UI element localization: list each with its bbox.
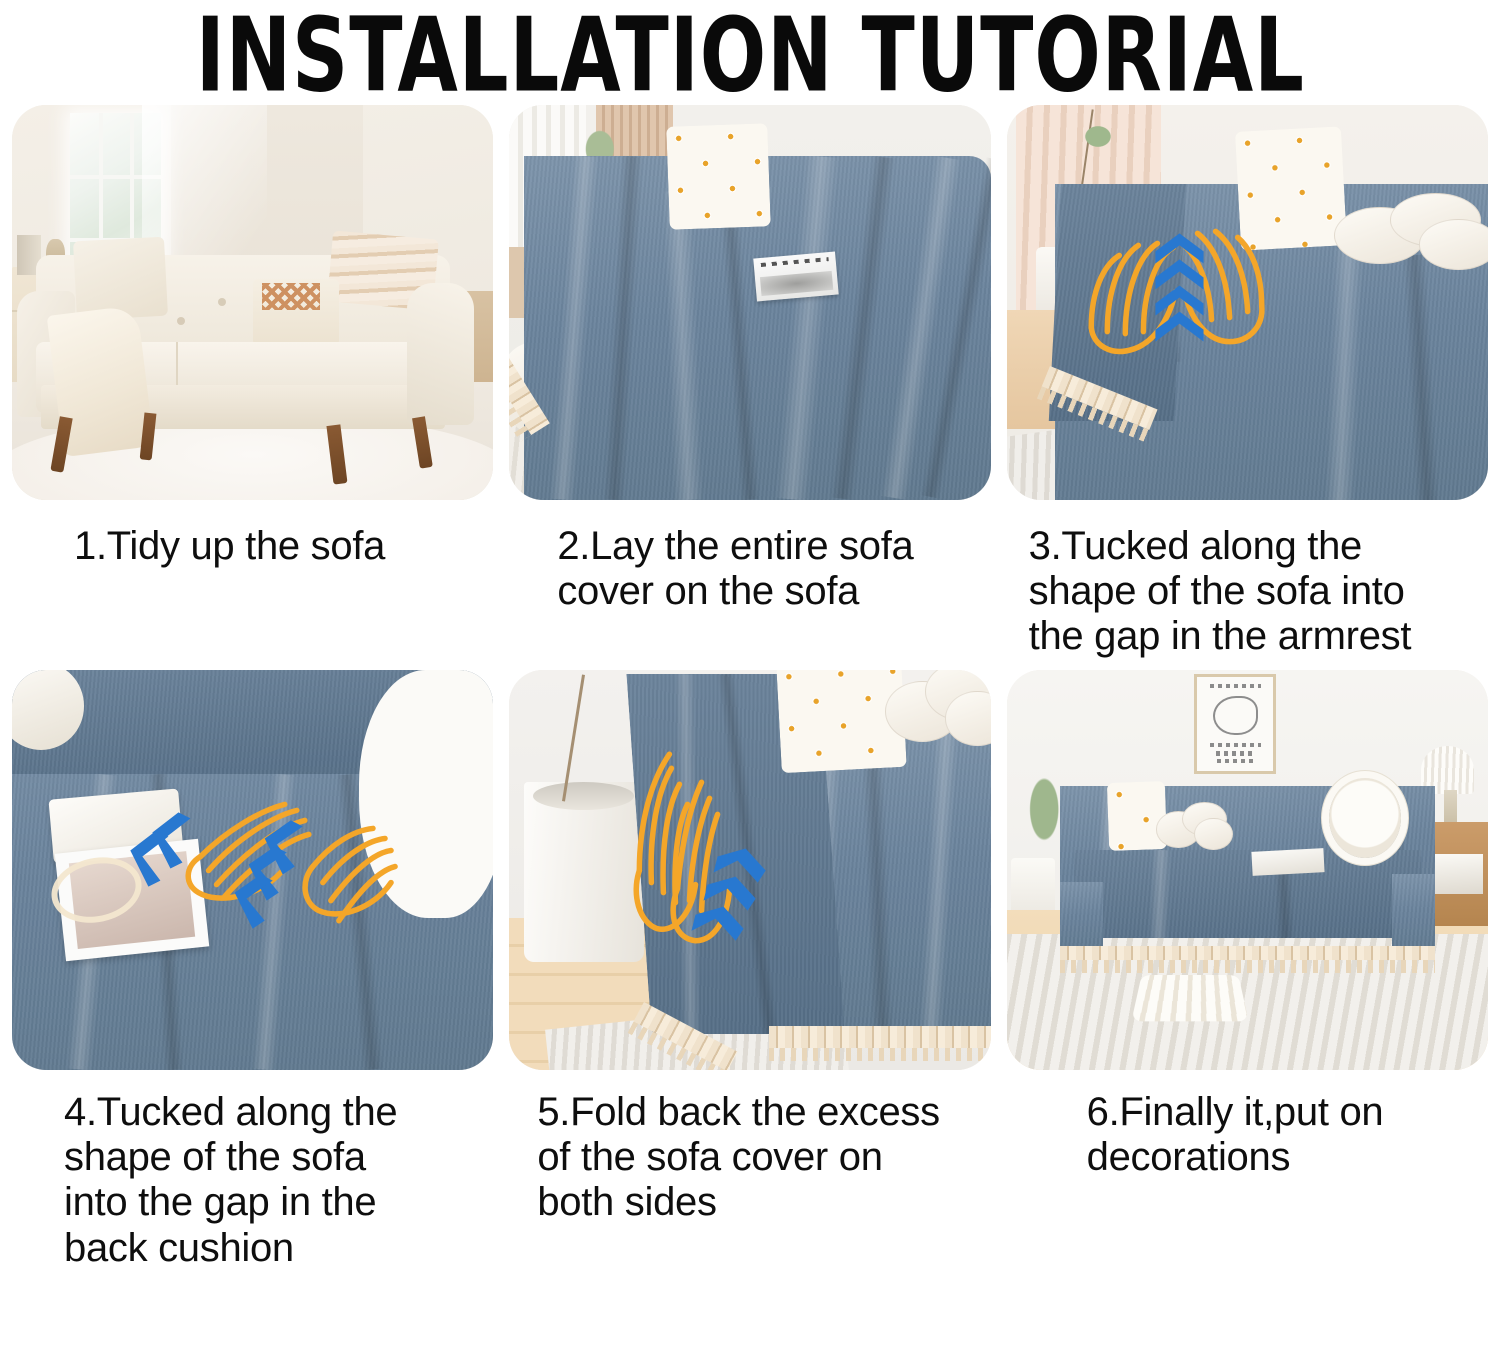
- picasso-wall-art: [1194, 674, 1276, 774]
- plant-icon: [577, 105, 635, 160]
- step-5-caption: 5.Fold back the excess of the sofa cover…: [509, 1090, 990, 1226]
- pillow-diamond-pattern: [262, 283, 320, 311]
- table-lamp-base: [1444, 790, 1457, 826]
- tutorial-step-3: 3.Tucked along the shape of the sofa int…: [1007, 105, 1488, 670]
- round-scalloped-pillow: [1329, 778, 1401, 858]
- magazine: [1252, 848, 1325, 876]
- tutorial-step-2: 2.Lay the entire sofa cover on the sofa: [509, 105, 990, 670]
- step-2-caption: 2.Lay the entire sofa cover on the sofa: [509, 524, 990, 614]
- step-4-caption-wrap: 4.Tucked along the shape of the sofa int…: [12, 1070, 493, 1271]
- tassel-fringe: [1060, 946, 1435, 960]
- knot-pillow: [885, 670, 991, 754]
- tutorial-step-5: 5.Fold back the excess of the sofa cover…: [509, 670, 990, 1271]
- tutorial-steps-grid: 1.Tidy up the sofa: [0, 105, 1500, 1271]
- step-3-photo: [1007, 105, 1488, 500]
- sofa-arm-right: [407, 283, 474, 425]
- page-title: INSTALLATION TUTORIAL: [195, 3, 1304, 105]
- step-6-caption: 6.Finally it,put on decorations: [1007, 1090, 1488, 1180]
- knit-textured-pillow: [359, 670, 494, 918]
- step-1-photo: [12, 105, 493, 500]
- planter-rim: [533, 782, 634, 810]
- plant-icon: [1069, 113, 1127, 160]
- tassel-fringe-front: [769, 1026, 990, 1048]
- covered-sofa-seat: [1074, 850, 1421, 938]
- step-5-photo: [509, 670, 990, 1070]
- tutorial-step-1: 1.Tidy up the sofa: [12, 105, 493, 670]
- knot-pillow: [1334, 188, 1488, 275]
- step-1-caption: 1.Tidy up the sofa: [12, 524, 493, 569]
- step-6-caption-wrap: 6.Finally it,put on decorations: [1007, 1070, 1488, 1240]
- page-header: INSTALLATION TUTORIAL: [0, 0, 1500, 105]
- step-2-caption-wrap: 2.Lay the entire sofa cover on the sofa: [509, 500, 990, 670]
- daisy-pattern-pillow: [1235, 126, 1347, 250]
- tutorial-step-4: 4.Tucked along the shape of the sofa int…: [12, 670, 493, 1271]
- step-2-photo: [509, 105, 990, 500]
- step-5-caption-wrap: 5.Fold back the excess of the sofa cover…: [509, 1070, 990, 1240]
- daisy-pattern-pillow: [666, 123, 771, 229]
- step-3-caption: 3.Tucked along the shape of the sofa int…: [1007, 524, 1488, 660]
- step-6-photo: [1007, 670, 1488, 1070]
- magazine: [753, 252, 838, 302]
- tutorial-step-6: 6.Finally it,put on decorations: [1007, 670, 1488, 1271]
- cover-skirt-right: [1392, 874, 1435, 954]
- knot-pillow: [1156, 802, 1233, 854]
- side-table-book: [1430, 854, 1483, 894]
- floor-cushion: [1131, 975, 1248, 1021]
- step-3-caption-wrap: 3.Tucked along the shape of the sofa int…: [1007, 500, 1488, 670]
- step-4-caption: 4.Tucked along the shape of the sofa int…: [12, 1090, 493, 1271]
- cover-skirt-left: [1060, 882, 1103, 954]
- step-1-caption-wrap: 1.Tidy up the sofa: [12, 500, 493, 670]
- step-4-photo: [12, 670, 493, 1070]
- sofa-pillow-left: [73, 237, 168, 321]
